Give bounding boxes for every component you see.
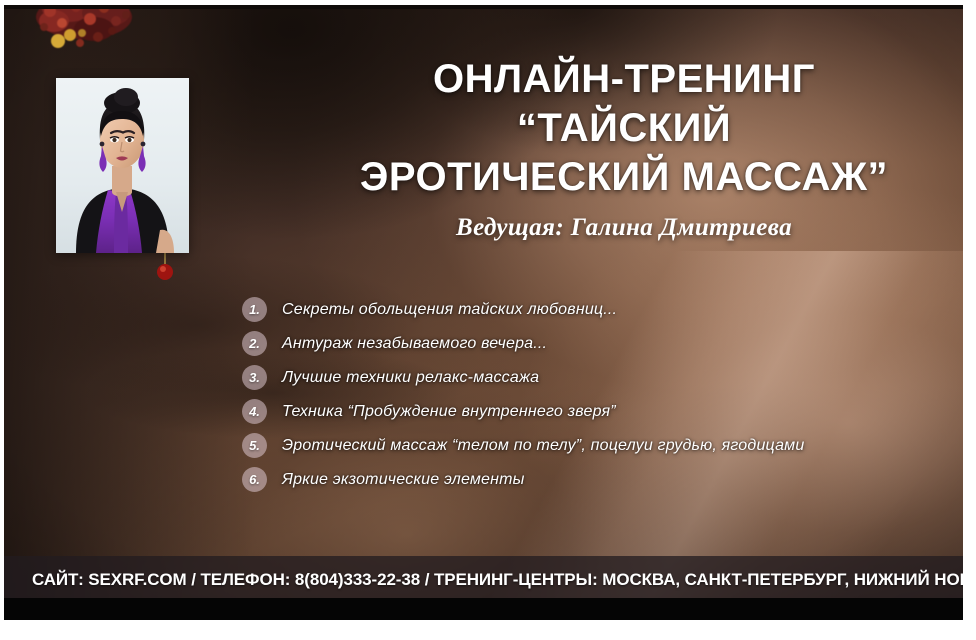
contact-banner-text: САЙТ: SEXRF.COM / ТЕЛЕФОН: 8(804)333-22-… bbox=[32, 570, 963, 590]
contact-banner: САЙТ: SEXRF.COM / ТЕЛЕФОН: 8(804)333-22-… bbox=[4, 556, 963, 603]
feature-item-4: 4. Техника “Пробуждение внутреннего звер… bbox=[242, 395, 942, 428]
feature-label: Техника “Пробуждение внутреннего зверя” bbox=[282, 402, 616, 422]
feature-label: Яркие экзотические элементы bbox=[282, 470, 525, 490]
presenter-name: Ведущая: Галина Дмитриева bbox=[304, 213, 944, 243]
floral-decoration-icon bbox=[24, 5, 152, 87]
feature-item-2: 2. Антураж незабываемого вечера... bbox=[242, 327, 942, 360]
presenter-portrait-photo bbox=[56, 78, 189, 253]
feature-list: 1. Секреты обольщения тайских любовниц..… bbox=[242, 293, 942, 497]
poster-canvas: ОНЛАЙН-ТРЕНИНГ “ТАЙСКИЙ ЭРОТИЧЕСКИЙ МАСС… bbox=[0, 0, 976, 640]
feature-number-badge: 2. bbox=[242, 331, 267, 356]
feature-number-badge: 3. bbox=[242, 365, 267, 390]
headline-block: ОНЛАЙН-ТРЕНИНГ “ТАЙСКИЙ ЭРОТИЧЕСКИЙ МАСС… bbox=[304, 55, 944, 243]
feature-label: Лучшие техники релакс-массажа bbox=[282, 368, 539, 388]
feature-number-badge: 4. bbox=[242, 399, 267, 424]
feature-number-badge: 1. bbox=[242, 297, 267, 322]
feature-item-5: 5. Эротический массаж “телом по телу”, п… bbox=[242, 429, 942, 462]
feature-label: Секреты обольщения тайских любовниц... bbox=[282, 300, 617, 320]
feature-number-badge: 5. bbox=[242, 433, 267, 458]
top-black-strip bbox=[4, 5, 963, 9]
bottom-black-strip bbox=[4, 598, 963, 620]
promo-poster: ОНЛАЙН-ТРЕНИНГ “ТАЙСКИЙ ЭРОТИЧЕСКИЙ МАСС… bbox=[4, 5, 963, 620]
headline-line-3: ЭРОТИЧЕСКИЙ МАССАЖ” bbox=[304, 153, 944, 202]
feature-item-6: 6. Яркие экзотические элементы bbox=[242, 463, 942, 496]
feature-label: Эротический массаж “телом по телу”, поце… bbox=[282, 436, 804, 456]
feature-number-badge: 6. bbox=[242, 467, 267, 492]
feature-item-3: 3. Лучшие техники релакс-массажа bbox=[242, 361, 942, 394]
feature-item-1: 1. Секреты обольщения тайских любовниц..… bbox=[242, 293, 942, 326]
headline-line-1: ОНЛАЙН-ТРЕНИНГ bbox=[304, 55, 944, 104]
headline-line-2: “ТАЙСКИЙ bbox=[304, 104, 944, 153]
feature-label: Антураж незабываемого вечера... bbox=[282, 334, 547, 354]
